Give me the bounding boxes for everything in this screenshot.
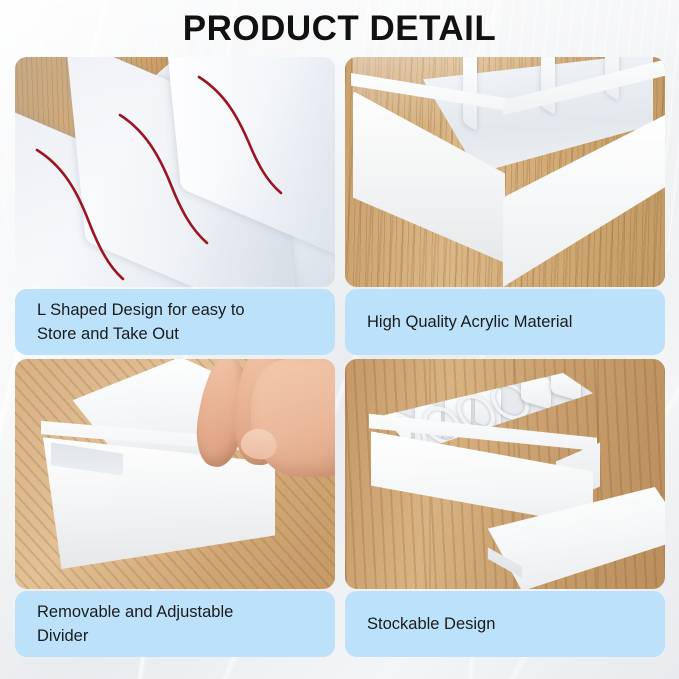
organizer-tray-illustration bbox=[15, 57, 335, 287]
product-photo-stockable-design bbox=[345, 359, 665, 589]
hand-illustration bbox=[193, 359, 335, 503]
caption-line: Divider bbox=[37, 624, 313, 648]
caption-line: Removable and Adjustable bbox=[37, 600, 313, 624]
storage-box-illustration bbox=[353, 57, 663, 283]
product-photo-removable-divider bbox=[15, 359, 335, 589]
panel-l-shaped-design: L Shaped Design for easy to Store and Ta… bbox=[15, 57, 335, 355]
caption-line: Stockable Design bbox=[367, 612, 643, 636]
product-detail-infographic: PRODUCT DETAIL bbox=[0, 0, 679, 679]
panel-stockable-design: Stockable Design bbox=[345, 359, 665, 657]
caption-line: High Quality Acrylic Material bbox=[367, 310, 643, 334]
page-title: PRODUCT DETAIL bbox=[0, 7, 679, 51]
caption-stockable-design: Stockable Design bbox=[345, 591, 665, 657]
caption-line: Store and Take Out bbox=[37, 322, 313, 346]
product-photo-acrylic-material bbox=[345, 57, 665, 287]
panel-grid: L Shaped Design for easy to Store and Ta… bbox=[15, 57, 665, 657]
panel-acrylic-material: High Quality Acrylic Material bbox=[345, 57, 665, 355]
panel-removable-divider: Removable and Adjustable Divider bbox=[15, 359, 335, 657]
caption-removable-divider: Removable and Adjustable Divider bbox=[15, 591, 335, 657]
divider-2 bbox=[541, 57, 555, 115]
red-curve-annotation-icon bbox=[15, 57, 335, 287]
caption-l-shaped-design: L Shaped Design for easy to Store and Ta… bbox=[15, 289, 335, 355]
product-photo-l-shaped-design bbox=[15, 57, 335, 287]
caption-acrylic-material: High Quality Acrylic Material bbox=[345, 289, 665, 355]
caption-line: L Shaped Design for easy to bbox=[37, 298, 313, 322]
